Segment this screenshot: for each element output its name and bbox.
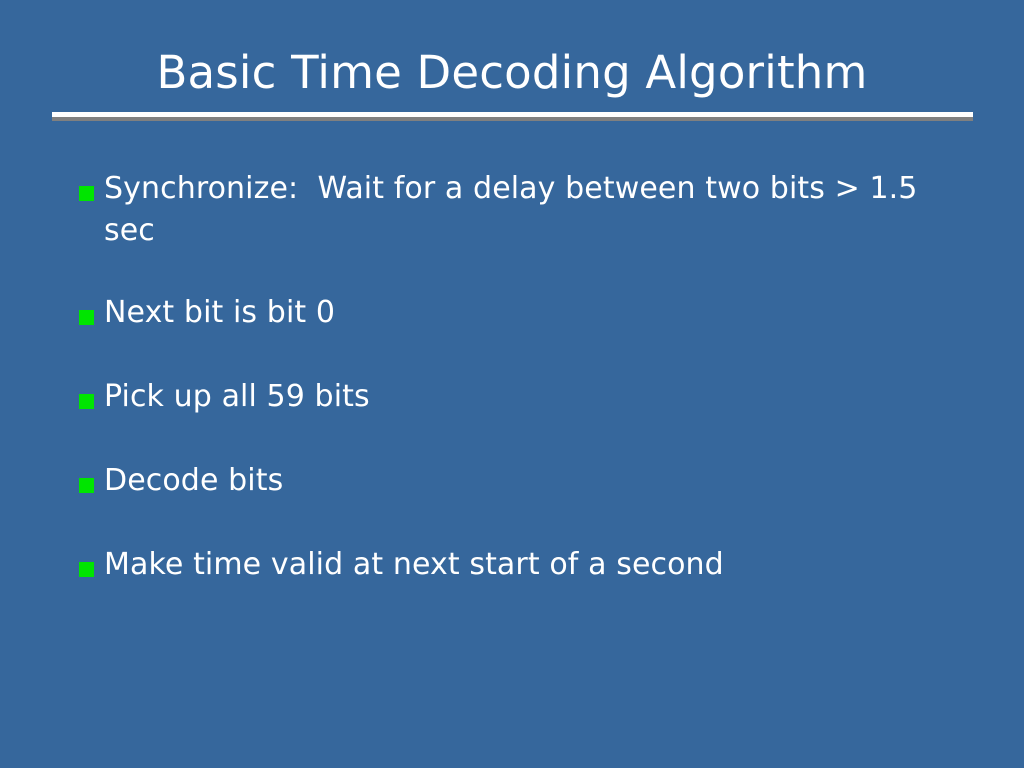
list-item-label: Pick up all 59 bits [104, 376, 949, 418]
square-bullet-icon [79, 310, 94, 325]
page-title: Basic Time Decoding Algorithm [0, 46, 1024, 100]
list-item-label: Next bit is bit 0 [104, 292, 949, 334]
list-item: Synchronize: Wait for a delay between tw… [76, 168, 976, 252]
square-bullet-icon [79, 394, 94, 409]
slide-title-block: Basic Time Decoding Algorithm [0, 46, 1024, 100]
square-bullet-icon [79, 562, 94, 577]
list-item: Next bit is bit 0 [76, 292, 976, 336]
list-item: Pick up all 59 bits [76, 376, 976, 420]
square-bullet-icon [79, 186, 94, 201]
list-item-label: Decode bits [104, 460, 949, 502]
list-item: Make time valid at next start of a secon… [76, 544, 976, 588]
list-item: Decode bits [76, 460, 976, 504]
list-item-label: Make time valid at next start of a secon… [104, 544, 949, 586]
square-bullet-icon [79, 478, 94, 493]
bullet-list: Synchronize: Wait for a delay between tw… [76, 168, 976, 588]
title-divider [52, 112, 973, 121]
title-divider-shadow [52, 117, 973, 121]
list-item-label: Synchronize: Wait for a delay between tw… [104, 168, 949, 252]
presentation-slide: Basic Time Decoding Algorithm Synchroniz… [0, 0, 1024, 768]
